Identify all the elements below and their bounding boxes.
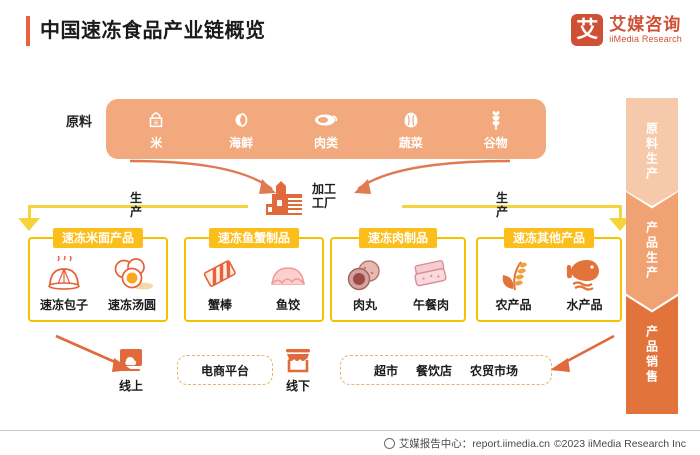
product-item-name: 鱼饺 [276, 296, 300, 313]
channel-offline-label: 线下 [286, 377, 310, 394]
production-label-left-line2: 产 [126, 205, 146, 219]
product-item-name: 速冻包子 [40, 296, 88, 313]
raw-material-vegetable[interactable]: 蔬菜 [371, 108, 451, 151]
factory-icon [262, 178, 310, 218]
factory-label-line2: 工厂 [312, 196, 342, 210]
vegetable-icon [399, 108, 423, 132]
stage-column: 原料生产 产品生产 产品销售 [626, 98, 678, 414]
title-accent-bar [26, 16, 30, 46]
channel-online-tags[interactable]: 电商平台 [177, 355, 273, 385]
factory-label-line1: 加工 [312, 182, 342, 196]
fish-icon [565, 252, 605, 292]
stage-raw-material-production[interactable]: 原料生产 [626, 98, 678, 206]
raw-material-meat[interactable]: 肉类 [286, 108, 366, 151]
production-rail-right [402, 205, 622, 208]
brand-logo: 艾 艾媒咨询 iiMedia Research [571, 14, 682, 46]
logo-name-en: iiMedia Research [609, 34, 682, 45]
product-box-meat[interactable]: 速冻肉制品 肉丸 [330, 237, 466, 322]
footer: 艾媒报告中心：report.iimedia.cn ©2023 iiMedia R… [384, 436, 686, 451]
product-item-steamed-bun[interactable]: 速冻包子 [33, 252, 95, 313]
raw-material-seafood[interactable]: 海鲜 [201, 108, 281, 151]
product-item-name: 水产品 [566, 296, 602, 313]
storefront-icon [284, 348, 312, 374]
channel-tag-farmers-market: 农贸市场 [470, 362, 518, 379]
raw-material-name: 米 [150, 134, 162, 151]
svg-text:米: 米 [154, 118, 160, 126]
product-item-crab-stick[interactable]: 蟹棒 [189, 252, 251, 313]
raw-material-name: 谷物 [484, 134, 508, 151]
product-box-rice-noodle[interactable]: 速冻米面产品 速冻包子 [28, 237, 168, 322]
production-label-left: 生 产 [126, 191, 146, 219]
logo-wordmark: 艾媒咨询 iiMedia Research [609, 15, 682, 45]
raw-materials-label: 原料 [62, 113, 96, 130]
product-box-title: 速冻肉制品 [359, 228, 437, 248]
raw-material-name: 海鲜 [229, 134, 253, 151]
product-item-fish-dumpling[interactable]: 鱼饺 [257, 252, 319, 313]
footer-copyright: ©2023 iiMedia Research Inc [554, 438, 686, 450]
product-item-name: 午餐肉 [413, 296, 449, 313]
stage-product-production[interactable]: 产品生产 [626, 192, 678, 310]
raw-material-name: 蔬菜 [399, 134, 423, 151]
raw-material-rice[interactable]: 米 米 [116, 108, 196, 151]
raw-material-grain[interactable]: 谷物 [456, 108, 536, 151]
logo-mark-icon: 艾 [571, 14, 603, 46]
logo-name-cn: 艾媒咨询 [609, 15, 682, 34]
fish-icon [229, 108, 253, 132]
cloud-online-icon [118, 348, 144, 374]
channel-online-label: 线上 [119, 377, 143, 394]
product-item-name: 蟹棒 [208, 296, 232, 313]
product-box-title: 速冻鱼蟹制品 [209, 228, 299, 248]
glutinous-ball-icon [111, 252, 153, 292]
product-item-luncheon-meat[interactable]: 午餐肉 [400, 252, 462, 313]
production-label-right-line2: 产 [492, 205, 512, 219]
infographic-page: 中国速冻食品产业链概览 艾 艾媒咨询 iiMedia Research 原料 米… [0, 0, 700, 455]
raw-materials-label-char-1: 原料 [66, 114, 92, 129]
raw-material-name: 肉类 [314, 134, 338, 151]
wheat-icon [484, 108, 508, 132]
product-box-title: 速冻米面产品 [53, 228, 143, 248]
channel-offline-tags[interactable]: 超市 餐饮店 农贸市场 [340, 355, 552, 385]
product-box-fish-crab[interactable]: 速冻鱼蟹制品 蟹棒 [184, 237, 324, 322]
product-item-name: 速冻汤圆 [108, 296, 156, 313]
globe-icon [384, 438, 395, 449]
product-item-meatball[interactable]: 肉丸 [334, 252, 396, 313]
channel-tag-ecommerce: 电商平台 [201, 362, 249, 379]
page-title: 中国速冻食品产业链概览 [40, 16, 266, 46]
product-box-title: 速冻其他产品 [504, 228, 594, 248]
raw-materials-bar: 米 米 海鲜 肉类 蔬菜 谷物 [106, 99, 546, 159]
production-label-right-line1: 生 [492, 191, 512, 205]
product-item-agriculture[interactable]: 农产品 [483, 252, 545, 313]
stage-product-sales[interactable]: 产品销售 [626, 296, 678, 414]
arrow-to-offline-channel [540, 332, 620, 376]
footer-source: 艾媒报告中心：report.iimedia.cn [399, 436, 550, 451]
factory-label: 加工 工厂 [312, 182, 342, 210]
channel-tag-supermarket: 超市 [374, 362, 398, 379]
production-rail-left-drop [28, 205, 31, 219]
product-item-name: 肉丸 [353, 296, 377, 313]
meat-icon [313, 108, 339, 132]
production-label-left-line1: 生 [126, 191, 146, 205]
product-item-name: 农产品 [495, 296, 531, 313]
crab-stick-icon [200, 252, 240, 292]
luncheon-meat-icon [409, 252, 453, 292]
product-box-other[interactable]: 速冻其他产品 农产品 [476, 237, 622, 322]
footer-divider [0, 430, 700, 431]
steamed-bun-icon [44, 252, 84, 292]
channel-tag-restaurant: 餐饮店 [416, 362, 452, 379]
channel-online[interactable]: 线上 [118, 348, 144, 394]
production-rail-right-drop [619, 205, 622, 219]
wheat-icon [495, 252, 533, 292]
production-label-right: 生 产 [492, 191, 512, 219]
page-header: 中国速冻食品产业链概览 艾 艾媒咨询 iiMedia Research [0, 0, 700, 62]
meatball-icon [345, 252, 385, 292]
rail-arrow-left-icon [18, 218, 40, 231]
channel-offline[interactable]: 线下 [284, 348, 312, 394]
fish-dumpling-icon [267, 252, 309, 292]
rice-bag-icon: 米 [145, 108, 167, 132]
product-item-aquatic[interactable]: 水产品 [554, 252, 616, 313]
product-item-glutinous-ball[interactable]: 速冻汤圆 [101, 252, 163, 313]
